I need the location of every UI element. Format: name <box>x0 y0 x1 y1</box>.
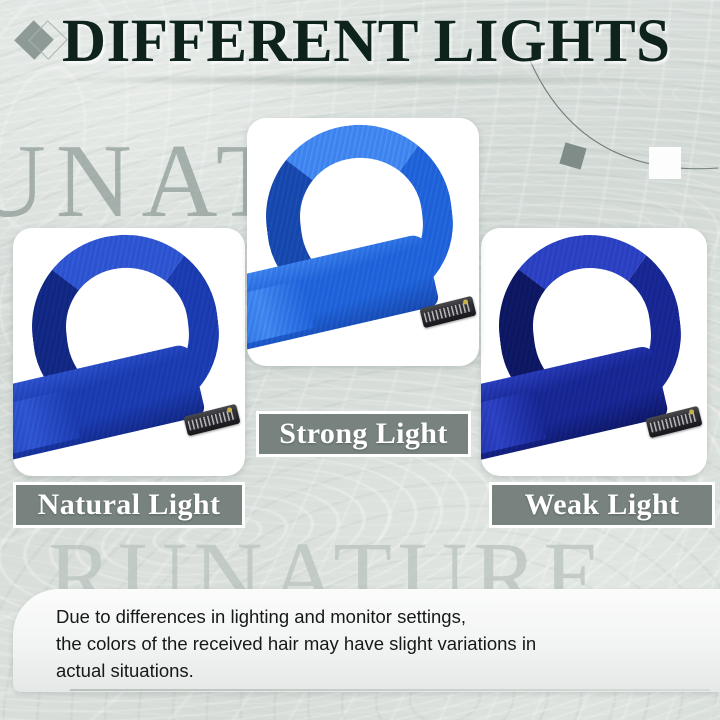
product-card-strong-light <box>247 118 479 366</box>
label-strong-light: Strong Light <box>256 411 471 457</box>
white-square-decoration-icon <box>649 147 681 179</box>
hair-extension-image-weak <box>481 228 707 476</box>
header: DIFFERENT LIGHTS <box>0 0 720 82</box>
infographic-poster: UNATU RUNATURE DIFFERENT LIGHTS <box>0 0 720 720</box>
disclaimer-text: Due to differences in lighting and monit… <box>56 603 690 684</box>
hair-extension-image-natural <box>13 228 245 476</box>
label-natural-light: Natural Light <box>13 482 245 528</box>
page-title: DIFFERENT LIGHTS <box>62 7 671 77</box>
label-weak-light: Weak Light <box>489 482 715 528</box>
disclaimer-rule <box>70 689 710 691</box>
hair-extension-image-strong <box>247 118 479 366</box>
product-card-natural-light <box>13 228 245 476</box>
product-card-weak-light <box>481 228 707 476</box>
disclaimer-panel: Due to differences in lighting and monit… <box>13 589 720 692</box>
